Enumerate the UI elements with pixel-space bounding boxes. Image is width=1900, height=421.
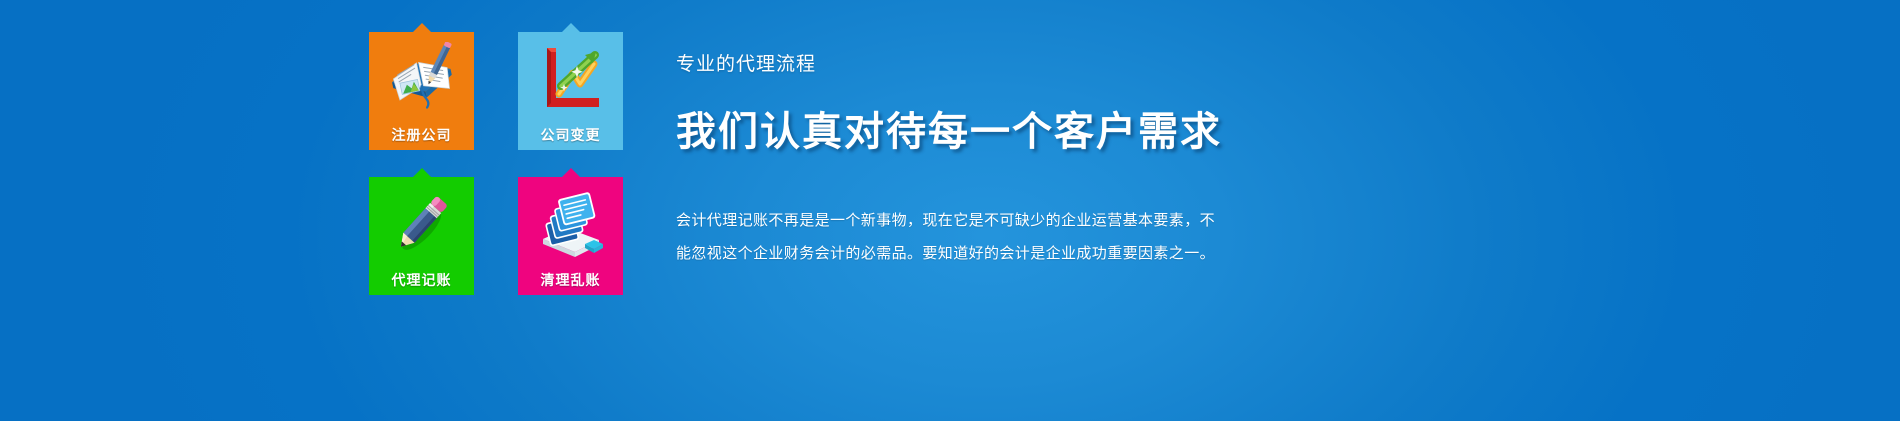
tile-body: 注册公司 xyxy=(369,32,474,150)
document-stack-icon xyxy=(533,187,609,261)
service-tile-label: 公司变更 xyxy=(541,128,601,142)
service-tile-label: 注册公司 xyxy=(392,128,452,142)
paragraph-line: 能忽视这个企业财务会计的必需品。要知道好的会计是企业成功重要因素之一。 xyxy=(676,237,1236,270)
service-tile-register-company[interactable]: 注册公司 xyxy=(369,32,474,150)
service-tile-company-change[interactable]: 公司变更 xyxy=(518,32,623,150)
paragraph-line: 会计代理记账不再是是一个新事物，现在它是不可缺少的企业运营基本要素，不 xyxy=(676,204,1236,237)
service-tile-grid: 注册公司 xyxy=(369,32,623,292)
service-tile-label: 代理记账 xyxy=(392,273,452,287)
banner-headline: 我们认真对待每一个客户需求 xyxy=(676,110,1576,154)
open-book-icon xyxy=(384,42,460,116)
service-tile-label: 清理乱账 xyxy=(541,273,601,287)
growth-chart-icon xyxy=(533,42,609,116)
banner-paragraph: 会计代理记账不再是是一个新事物，现在它是不可缺少的企业运营基本要素，不 能忽视这… xyxy=(676,204,1236,270)
service-tile-agency-bookkeeping[interactable]: 代理记账 xyxy=(369,177,474,295)
pencil-icon xyxy=(384,187,460,261)
banner-eyebrow: 专业的代理流程 xyxy=(676,54,1576,77)
tile-body: 公司变更 xyxy=(518,32,623,150)
banner-copy: 专业的代理流程 我们认真对待每一个客户需求 会计代理记账不再是是一个新事物，现在… xyxy=(676,54,1576,154)
tile-body: 代理记账 xyxy=(369,177,474,295)
service-tile-account-cleanup[interactable]: 清理乱账 xyxy=(518,177,623,295)
tile-body: 清理乱账 xyxy=(518,177,623,295)
promo-banner: 注册公司 xyxy=(0,0,1900,421)
